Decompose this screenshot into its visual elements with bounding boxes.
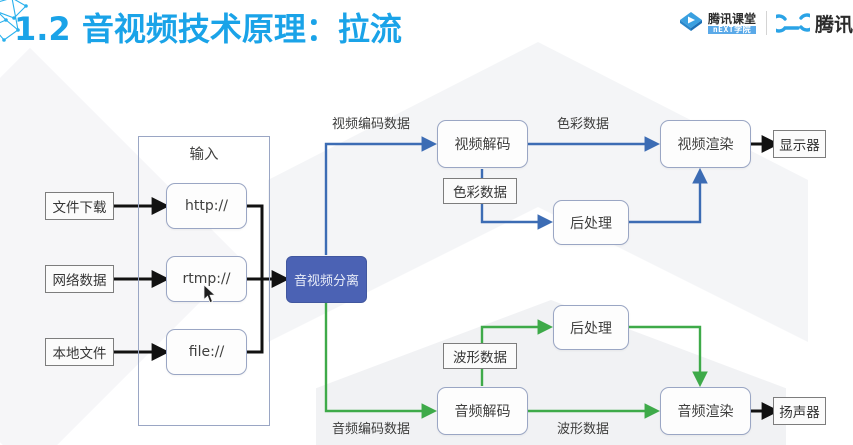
diagram-connectors	[0, 0, 853, 445]
speaker-output-box[interactable]: 扬声器	[773, 397, 826, 425]
protocol-box-http[interactable]: http://	[166, 183, 247, 229]
protocol-box-file[interactable]: file://	[166, 329, 247, 375]
demux-box[interactable]: 音视频分离	[286, 256, 367, 303]
waveform-data-tag-from-decode[interactable]: 波形数据	[443, 343, 517, 369]
color-data-tag-from-decode[interactable]: 色彩数据	[443, 178, 517, 204]
edge-label-video-encoded-data: 视频编码数据	[332, 113, 410, 132]
protocol-box-rtmp[interactable]: rtmp://	[166, 256, 247, 302]
source-label-local-file[interactable]: 本地文件	[45, 338, 114, 366]
video-render-box[interactable]: 视频渲染	[660, 120, 751, 168]
edge-label-audio-encoded-data: 音频编码数据	[332, 418, 410, 437]
edge-label-waveform-data-to-render: 波形数据	[557, 418, 609, 437]
source-label-network-data[interactable]: 网络数据	[45, 265, 114, 293]
display-output-box[interactable]: 显示器	[773, 130, 826, 158]
audio-post-process-box[interactable]: 后处理	[553, 305, 629, 350]
edge-label-color-data-to-render: 色彩数据	[557, 113, 609, 132]
video-post-process-box[interactable]: 后处理	[553, 200, 629, 245]
slide-canvas: 1.2 音视频技术原理：拉流 腾讯课堂 nEXT学院	[0, 0, 853, 445]
video-decode-box[interactable]: 视频解码	[437, 120, 528, 168]
audio-decode-box[interactable]: 音频解码	[437, 387, 528, 435]
input-group-title: 输入	[138, 143, 270, 164]
audio-render-box[interactable]: 音频渲染	[660, 387, 751, 435]
source-label-file-download[interactable]: 文件下载	[45, 192, 114, 220]
